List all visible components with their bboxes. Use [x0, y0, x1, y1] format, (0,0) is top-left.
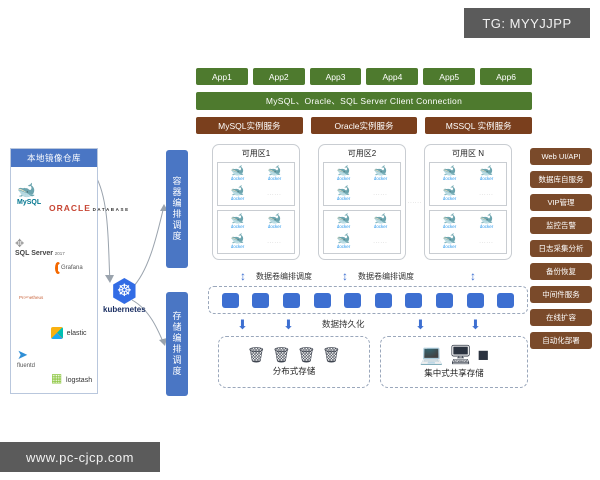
fluentd-logo-icon: ➤	[17, 347, 35, 363]
repo-item-label: MySQL	[17, 199, 41, 206]
instance-service-oracle[interactable]: Oracle实例服务	[311, 117, 418, 134]
volume-scheduling-row: ↕ 数据卷编排调度 ↕ 数据卷编排调度 ↕	[212, 268, 524, 284]
distributed-storage-box: 🗑 🗑 🗑 🗑 分布式存储	[218, 336, 370, 388]
local-image-repository-panel: 本地镜像仓库 🐋 MySQL ORACLE DATABASE ✥ SQL Ser…	[10, 148, 98, 394]
zone-node-group: 🐋docker 🐋docker 🐋docker ......	[217, 210, 295, 254]
down-arrow-icon: ⬇	[415, 318, 426, 331]
volume-cell[interactable]	[375, 293, 392, 308]
feature-log-collection[interactable]: 日志采集分析	[530, 240, 592, 257]
docker-node: 🐋docker	[268, 214, 282, 230]
feature-backup-restore[interactable]: 备份恢复	[530, 263, 592, 280]
client-connection-bar: MySQL、Oracle、SQL Server Client Connectio…	[196, 92, 532, 110]
docker-node: 🐋docker	[231, 214, 245, 230]
watermark-bottom-left: www.pc-cjcp.com	[0, 442, 160, 472]
volume-cell[interactable]	[497, 293, 514, 308]
repo-item-label: Grafana	[61, 265, 83, 271]
bidirectional-arrow-icon: ↕	[342, 270, 348, 282]
down-arrow-icon: ⬇	[283, 318, 294, 331]
volume-cell[interactable]	[344, 293, 361, 308]
app-chip[interactable]: App4	[366, 68, 418, 85]
repo-item-mysql: 🐋 MySQL	[17, 181, 41, 206]
zone-title: 可用区2	[323, 148, 401, 159]
docker-node: 🐋docker	[337, 186, 351, 202]
bidirectional-arrow-icon: ↕	[470, 270, 476, 282]
docker-node: 🐋docker	[480, 214, 494, 230]
zone-node-group: 🐋docker 🐋docker 🐋docker ......	[429, 162, 507, 206]
application-row: App1 App2 App3 App4 App5 App6	[196, 68, 532, 85]
kubernetes-helm-icon	[111, 278, 137, 304]
docker-node: 🐋docker	[337, 166, 351, 182]
docker-node: 🐋docker	[374, 166, 388, 182]
sqlserver-logo-icon: ✥	[15, 237, 65, 250]
docker-node: 🐋docker	[268, 166, 282, 182]
repo-item-logstash: ▦ logstash	[51, 371, 92, 385]
storage-label: 分布式存储	[273, 365, 316, 377]
app-chip[interactable]: App6	[480, 68, 532, 85]
feature-middleware-service[interactable]: 中间件服务	[530, 286, 592, 303]
zone-node-group: 🐋docker 🐋docker 🐋docker ......	[323, 162, 401, 206]
zone-gap	[300, 144, 318, 260]
bidirectional-arrow-icon: ↕	[240, 270, 246, 282]
container-orchestration-bar: 容器编排调度	[166, 150, 188, 268]
volume-scheduling-label: 数据卷编排调度	[358, 271, 414, 282]
availability-zone-2: 可用区2 🐋docker 🐋docker 🐋docker ...... 🐋doc…	[318, 144, 406, 260]
repo-item-prometheus: Prometheus	[19, 295, 43, 301]
diagram-canvas: 本地镜像仓库 🐋 MySQL ORACLE DATABASE ✥ SQL Ser…	[0, 0, 600, 480]
data-volume-pool	[208, 286, 528, 314]
node-placeholder: ......	[267, 191, 281, 197]
repo-item-label: SQL Server	[15, 250, 53, 257]
persistence-label: 数据持久化	[322, 318, 365, 330]
zone-title: 可用区 N	[429, 148, 507, 159]
docker-node: 🐋docker	[374, 214, 388, 230]
docker-node: 🐋docker	[231, 186, 245, 202]
docker-node: 🐋docker	[337, 214, 351, 230]
instance-service-mysql[interactable]: MySQL实例服务	[196, 117, 303, 134]
repo-item-oracle: ORACLE DATABASE	[49, 203, 130, 213]
zone-node-group: 🐋docker 🐋docker 🐋docker ......	[323, 210, 401, 254]
availability-zone-1: 可用区1 🐋docker 🐋docker 🐋docker ...... 🐋doc…	[212, 144, 300, 260]
logstash-logo-icon: ▦	[51, 371, 62, 385]
feature-monitoring-alerts[interactable]: 监控告警	[530, 217, 592, 234]
node-placeholder: ......	[267, 239, 281, 245]
repo-image-list: 🐋 MySQL ORACLE DATABASE ✥ SQL Server 201…	[11, 167, 97, 393]
instance-service-mssql[interactable]: MSSQL 实例服务	[425, 117, 532, 134]
node-placeholder: ......	[479, 191, 493, 197]
kubernetes-label: kubernetes	[103, 305, 146, 314]
oracle-subtitle: DATABASE	[93, 207, 130, 212]
zone-ellipsis: ......	[408, 199, 422, 205]
app-chip[interactable]: App2	[253, 68, 305, 85]
mysql-dolphin-icon: 🐋	[17, 181, 41, 199]
server-rack-icon: 💻 🖥 ■	[420, 346, 488, 365]
zone-node-group: 🐋docker 🐋docker 🐋docker ......	[217, 162, 295, 206]
kubernetes-node: kubernetes	[103, 278, 146, 314]
feature-web-ui-api[interactable]: Web UI/API	[530, 148, 592, 165]
repo-item-label: elastic	[67, 330, 87, 337]
volume-cell[interactable]	[405, 293, 422, 308]
docker-node: 🐋docker	[337, 234, 351, 250]
feature-list: Web UI/API 数据库自服务 VIP管理 监控告警 日志采集分析 备份恢复…	[530, 148, 592, 349]
node-placeholder: ......	[373, 239, 387, 245]
volume-cell[interactable]	[283, 293, 300, 308]
repo-item-label: logstash	[66, 377, 92, 384]
volume-cell[interactable]	[314, 293, 331, 308]
down-arrow-icon: ⬇	[237, 318, 248, 331]
docker-node: 🐋docker	[443, 166, 457, 182]
repo-item-fluentd: ➤ fluentd	[17, 347, 35, 369]
node-placeholder: ......	[373, 191, 387, 197]
node-placeholder: ......	[479, 239, 493, 245]
repo-item-grafana: Grafana	[55, 265, 83, 271]
app-chip[interactable]: App5	[423, 68, 475, 85]
zone-title: 可用区1	[217, 148, 295, 159]
zone-node-group: 🐋docker 🐋docker 🐋docker ......	[429, 210, 507, 254]
docker-node: 🐋docker	[231, 166, 245, 182]
docker-node: 🐋docker	[443, 234, 457, 250]
volume-cell[interactable]	[436, 293, 453, 308]
app-chip[interactable]: App3	[310, 68, 362, 85]
zone-ellipsis-gap: ......	[406, 144, 424, 260]
down-arrow-icon: ⬇	[470, 318, 481, 331]
storage-label: 集中式共享存储	[424, 367, 484, 379]
elastic-logo-icon	[51, 327, 63, 339]
database-cluster-icon: 🗑 🗑 🗑 🗑	[247, 348, 341, 363]
feature-automated-deploy[interactable]: 自动化部署	[530, 332, 592, 349]
repo-item-sqlserver: ✥ SQL Server 2017	[15, 237, 65, 257]
volume-cell[interactable]	[467, 293, 484, 308]
docker-node: 🐋docker	[443, 186, 457, 202]
repo-item-label: ORACLE	[49, 203, 91, 213]
feature-vip-management[interactable]: VIP管理	[530, 194, 592, 211]
availability-zone-row: 可用区1 🐋docker 🐋docker 🐋docker ...... 🐋doc…	[212, 144, 524, 260]
docker-node: 🐋docker	[480, 166, 494, 182]
repo-item-label: fluentd	[17, 363, 35, 369]
app-chip[interactable]: App1	[196, 68, 248, 85]
sqlserver-subtitle: 2017	[55, 251, 65, 256]
repo-item-elastic: elastic	[51, 327, 87, 339]
docker-node: 🐋docker	[231, 234, 245, 250]
feature-db-self-service[interactable]: 数据库自服务	[530, 171, 592, 188]
docker-node: 🐋docker	[443, 214, 457, 230]
watermark-top-right: TG: MYYJJPP	[464, 8, 590, 38]
storage-orchestration-bar: 存储编排调度	[166, 292, 188, 396]
repo-title: 本地镜像仓库	[11, 149, 97, 167]
centralized-storage-box: 💻 🖥 ■ 集中式共享存储	[380, 336, 528, 388]
feature-online-scaling[interactable]: 在线扩容	[530, 309, 592, 326]
availability-zone-n: 可用区 N 🐋docker 🐋docker 🐋docker ...... 🐋do…	[424, 144, 512, 260]
volume-scheduling-label: 数据卷编排调度	[256, 271, 312, 282]
volume-cell[interactable]	[222, 293, 239, 308]
volume-cell[interactable]	[252, 293, 269, 308]
instance-service-row: MySQL实例服务 Oracle实例服务 MSSQL 实例服务	[196, 117, 532, 134]
